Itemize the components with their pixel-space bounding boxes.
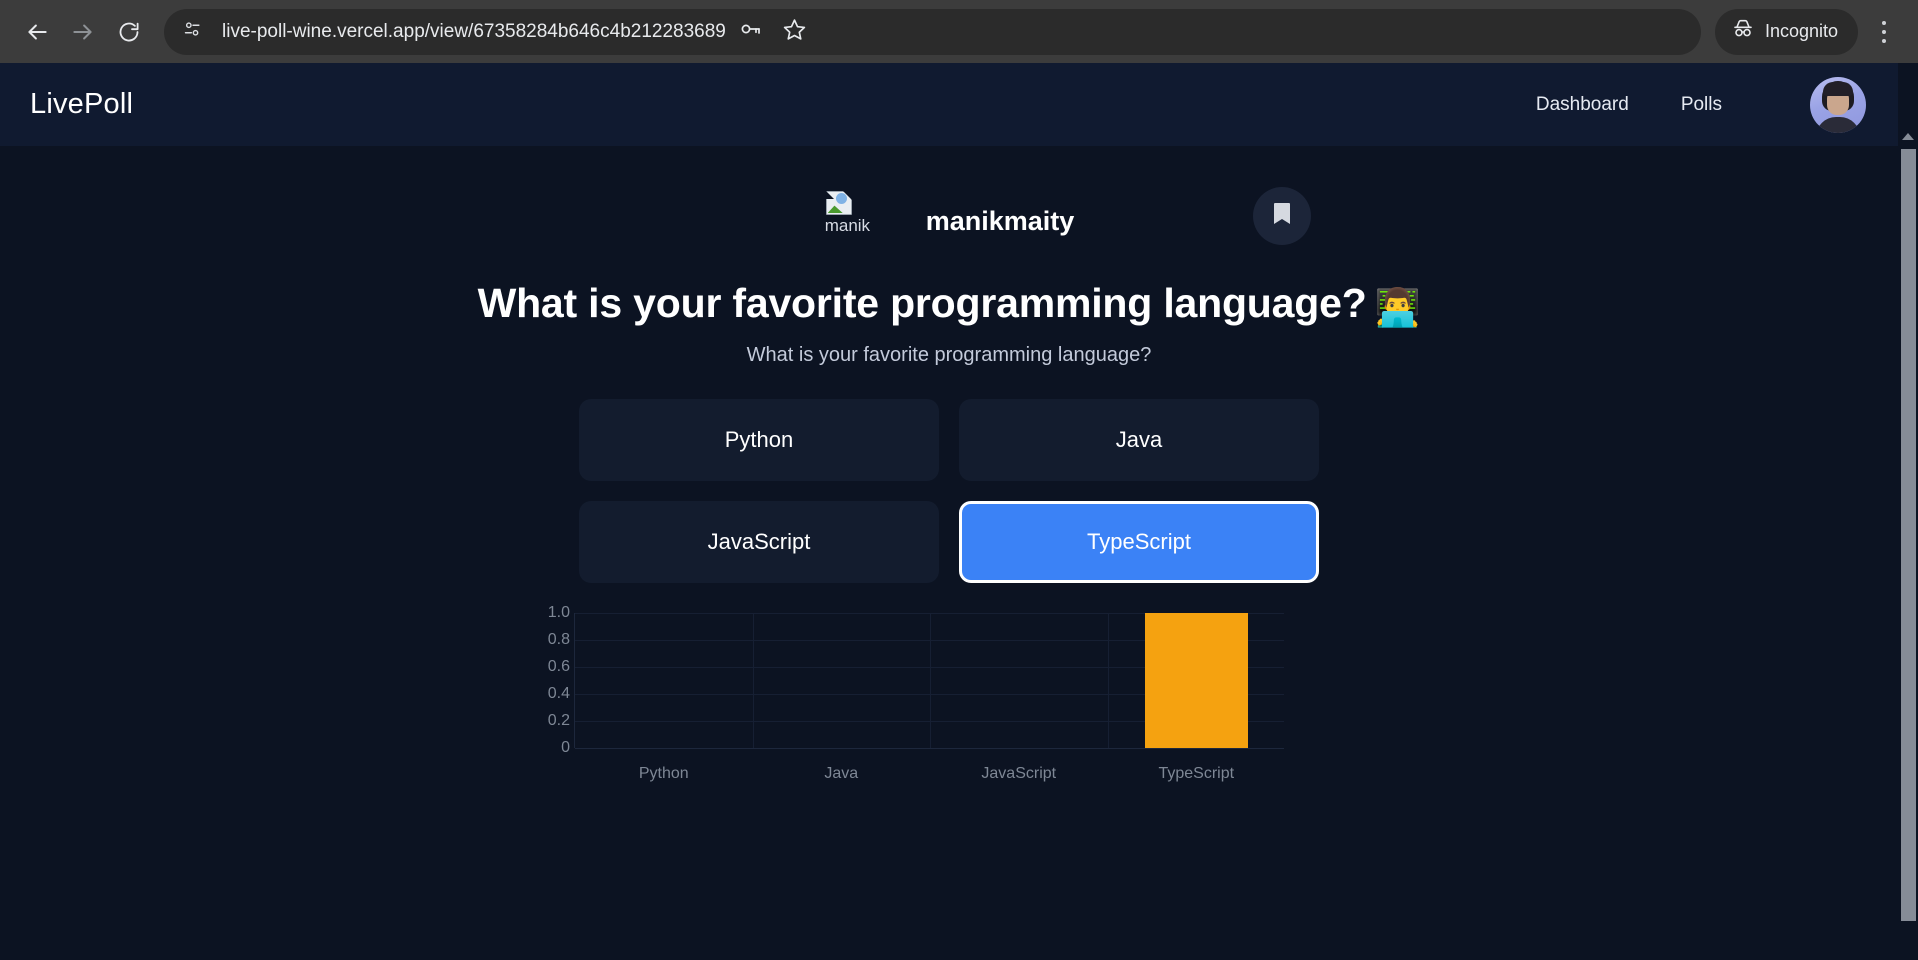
chart-vertical-gridline [753, 613, 754, 748]
chart-y-tick-label: 0.6 [500, 658, 570, 676]
site-header: LivePoll Dashboard Polls [0, 63, 1898, 146]
broken-image-icon [826, 191, 852, 215]
poll-container: manik manikmaity What is your favorite p… [0, 146, 1898, 805]
poll-owner-name: manikmaity [926, 206, 1075, 237]
scroll-up-button[interactable] [1898, 126, 1918, 146]
chart-bar[interactable] [1145, 613, 1248, 748]
scrollbar-thumb[interactable] [1901, 149, 1916, 921]
bookmark-page-button[interactable] [776, 13, 814, 51]
browser-toolbar: live-poll-wine.vercel.app/view/67358284b… [0, 0, 1918, 63]
address-bar[interactable]: live-poll-wine.vercel.app/view/67358284b… [164, 9, 1701, 55]
poll-options: Python Java JavaScript TypeScript [579, 399, 1319, 583]
forward-button[interactable] [60, 9, 106, 55]
chart-y-tick-label: 0.2 [500, 712, 570, 730]
scroll-up-arrow-icon [1902, 133, 1914, 140]
incognito-label: Incognito [1765, 21, 1838, 42]
chart-y-tick-label: 0.4 [500, 685, 570, 703]
chart-vertical-gridline [1108, 613, 1109, 748]
poll-owner-avatar-alt: manik [825, 217, 870, 234]
poll-option-typescript[interactable]: TypeScript [959, 501, 1319, 583]
chart-y-tick-label: 0.8 [500, 631, 570, 649]
reload-button[interactable] [106, 9, 152, 55]
poll-description: What is your favorite programming langua… [0, 344, 1898, 367]
back-button[interactable] [14, 9, 60, 55]
bookmark-poll-button[interactable] [1253, 187, 1311, 245]
star-icon [782, 17, 807, 47]
bookmark-icon [1271, 201, 1293, 232]
site-settings-icon [183, 19, 203, 44]
chart-gridline [575, 748, 1284, 749]
page-content: LivePoll Dashboard Polls [0, 63, 1898, 960]
chart-vertical-gridline [930, 613, 931, 748]
site-settings-button[interactable] [176, 15, 210, 49]
reload-icon [117, 20, 141, 44]
technologist-emoji: 👨‍💻 [1375, 287, 1421, 328]
poll-owner: manik manikmaity [824, 190, 1075, 252]
results-chart: 1.00.80.60.40.20PythonJavaJavaScriptType… [514, 605, 1384, 805]
chart-x-tick-label: TypeScript [1158, 765, 1234, 783]
nav-link-dashboard[interactable]: Dashboard [1536, 94, 1629, 116]
poll-option-java[interactable]: Java [959, 399, 1319, 481]
incognito-indicator[interactable]: Incognito [1715, 9, 1858, 55]
chart-y-tick-label: 1.0 [500, 604, 570, 622]
poll-option-python[interactable]: Python [579, 399, 939, 481]
back-arrow-icon [24, 19, 50, 45]
chart-x-tick-label: Python [639, 765, 689, 783]
poll-title-text: What is your favorite programming langua… [478, 280, 1367, 326]
forward-arrow-icon [70, 19, 96, 45]
poll-owner-avatar: manik [824, 190, 886, 252]
url-text[interactable]: live-poll-wine.vercel.app/view/67358284b… [222, 21, 726, 43]
key-icon [739, 17, 763, 46]
browser-menu-button[interactable] [1864, 9, 1904, 55]
avatar-body [1816, 117, 1860, 133]
brand-logo[interactable]: LivePoll [30, 88, 133, 121]
page-scrollbar[interactable] [1898, 126, 1918, 960]
incognito-icon [1731, 17, 1755, 46]
page-viewport: LivePoll Dashboard Polls [0, 63, 1918, 960]
chart-x-tick-label: Java [824, 765, 858, 783]
chart-x-tick-label: JavaScript [981, 765, 1056, 783]
header-nav: Dashboard Polls [1536, 77, 1866, 133]
nav-link-polls[interactable]: Polls [1681, 94, 1722, 116]
three-dot-menu-icon [1882, 18, 1886, 45]
chart-y-tick-label: 0 [500, 739, 570, 757]
chart-plot-area: 1.00.80.60.40.20PythonJavaJavaScriptType… [574, 613, 1284, 748]
password-manager-button[interactable] [732, 13, 770, 51]
poll-title: What is your favorite programming langua… [0, 280, 1898, 330]
poll-owner-row: manik manikmaity [0, 186, 1898, 256]
avatar-hair-front [1823, 82, 1853, 96]
avatar[interactable] [1810, 77, 1866, 133]
poll-option-javascript[interactable]: JavaScript [579, 501, 939, 583]
